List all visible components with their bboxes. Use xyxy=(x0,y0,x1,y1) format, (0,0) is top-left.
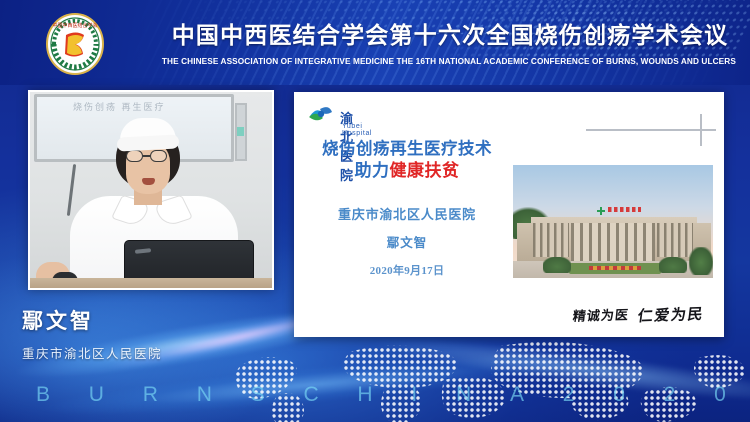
slide-title: 烧伤创疡再生医疗技术 助力健康扶贫 xyxy=(304,138,510,182)
photo-hospital-sign xyxy=(597,207,641,216)
speaker-name: 鄢文智 xyxy=(22,305,162,335)
hospital-building-photo xyxy=(513,165,713,278)
wordmark-letter: 2 xyxy=(664,383,676,407)
photo-hospital-sign-text xyxy=(608,207,641,212)
medical-cross-icon xyxy=(597,207,605,215)
association-emblem: 中国中西医结合学会 xyxy=(44,13,106,75)
slide-title-line2-red: 健康扶贫 xyxy=(390,161,460,180)
wordmark-letter: 0 xyxy=(714,383,726,407)
wordmark-letter: I xyxy=(411,383,417,407)
slide-title-line2-blue: 助力 xyxy=(355,161,390,180)
slide-organization: 重庆市渝北区人民医院 xyxy=(304,204,510,223)
wordmark-letter: C xyxy=(303,383,318,407)
eyeglasses-left-lens xyxy=(126,150,143,162)
hospital-logo-name-en: Yubei Hospital xyxy=(342,123,372,137)
slide-presenter: 鄢文智 xyxy=(304,232,510,251)
calligraphy-right: 仁爱为民 xyxy=(637,303,706,326)
wordmark-letter: 2 xyxy=(563,383,575,407)
conference-title: 中国中西医结合学会第十六次全国烧伤创疡学术会议 xyxy=(170,16,730,50)
speaker-video-feed[interactable]: 烧伤创疡 再生医疗 xyxy=(28,90,274,290)
photo-entrance-columns xyxy=(571,223,655,261)
slide-calligraphy-motto: 精诚为医 仁爱为民 xyxy=(573,304,704,325)
speaker-mouth xyxy=(142,178,155,185)
svg-text:中国中西医结合学会: 中国中西医结合学会 xyxy=(52,22,97,29)
presentation-slide[interactable]: 渝北医院 Yubei Hospital 烧伤创疡再生医疗技术 助力健康扶贫 重庆… xyxy=(294,92,724,337)
eyeglasses-bridge xyxy=(143,155,150,157)
event-wordmark: B U R N S C H I N A 2 0 2 0 xyxy=(36,383,726,407)
wordmark-letter: H xyxy=(357,383,372,407)
desk-edge xyxy=(30,278,274,288)
wordmark-letter: 0 xyxy=(613,383,625,407)
laptop-logo xyxy=(135,248,151,254)
photo-windows-left xyxy=(533,223,569,257)
wordmark-letter: S xyxy=(251,383,265,407)
speaker-affiliation: 重庆市渝北区人民医院 xyxy=(22,343,162,362)
slide-date: 2020年9月17日 xyxy=(304,262,510,278)
whiteboard-led xyxy=(237,127,244,136)
dotted-world-map xyxy=(200,336,750,422)
slide-title-line2: 助力健康扶贫 xyxy=(304,160,510,182)
hospital-mark-icon xyxy=(306,102,336,128)
wordmark-letter: N xyxy=(456,383,471,407)
conference-broadcast-screen: 中国中西医结合学会 中国中西医结合学会第十六次全国烧伤创疡学术会议 THE CH… xyxy=(0,0,750,422)
conference-title-english: THE CHINESE ASSOCIATION OF INTEGRATIVE M… xyxy=(162,56,734,66)
photo-hedge-right xyxy=(659,257,687,273)
slide-subtitle-block: 重庆市渝北区人民医院 鄢文智 2020年9月17日 xyxy=(304,204,510,278)
wordmark-letter: U xyxy=(89,383,104,407)
speaker-head xyxy=(116,120,180,194)
photo-flowerbed xyxy=(589,266,641,270)
photo-hedge-left xyxy=(543,257,571,273)
slide-decor-line-vertical xyxy=(700,114,702,146)
slide-title-line1: 烧伤创疡再生医疗技术 xyxy=(304,138,510,160)
wordmark-letter: R xyxy=(143,383,158,407)
speaker-nameplate: 鄢文智 重庆市渝北区人民医院 xyxy=(22,305,162,362)
hospital-logo: 渝北医院 Yubei Hospital xyxy=(306,102,336,133)
wordmark-letter: A xyxy=(510,383,524,407)
whiteboard-text: 烧伤创疡 再生医疗 xyxy=(73,100,166,113)
wordmark-letter: N xyxy=(197,383,212,407)
wordmark-letter: B xyxy=(36,383,50,407)
calligraphy-left: 精诚为医 xyxy=(572,304,630,324)
conference-header-banner: 中国中西医结合学会 中国中西医结合学会第十六次全国烧伤创疡学术会议 THE CH… xyxy=(0,0,750,85)
photo-tree-right xyxy=(689,247,713,275)
eyeglasses-right-lens xyxy=(150,150,167,162)
photo-windows-right xyxy=(657,223,693,257)
slide-decor-line-horizontal xyxy=(586,129,716,131)
